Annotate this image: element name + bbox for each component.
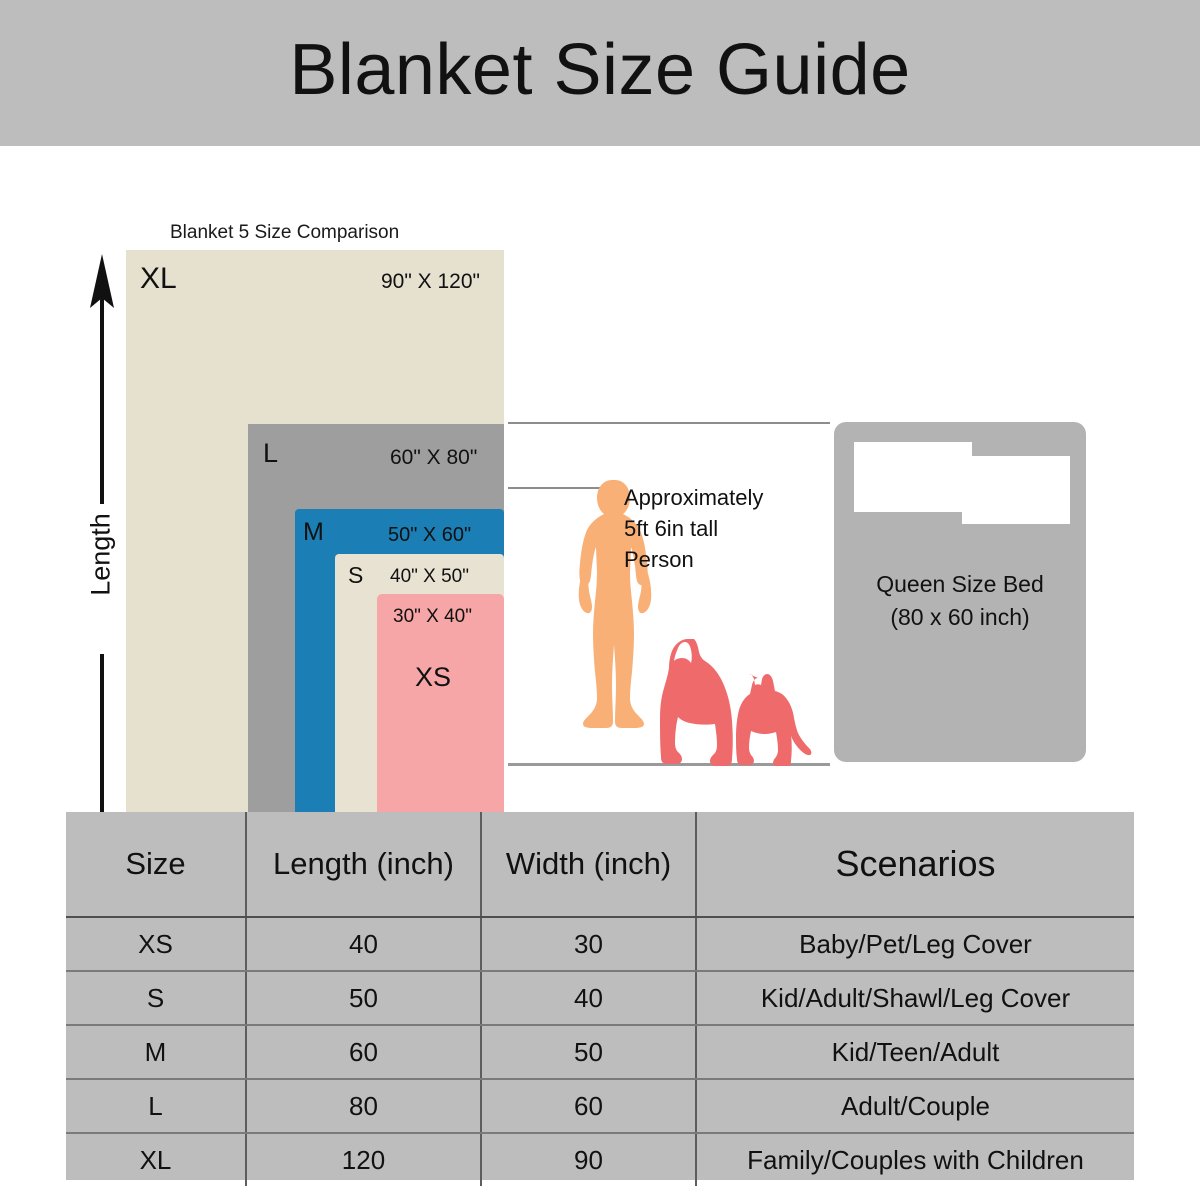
table-row: S 50 40 Kid/Adult/Shawl/Leg Cover: [66, 971, 1134, 1025]
comparison-caption: Blanket 5 Size Comparison: [170, 222, 399, 244]
page-title: Blanket Size Guide: [0, 22, 1200, 118]
table-header-scenarios: Scenarios: [696, 812, 1134, 917]
person-height-caption: Approximately 5ft 6in tall Person: [624, 482, 824, 575]
cell-size: S: [66, 971, 246, 1025]
pets-silhouette-icon: [660, 636, 812, 771]
bed-subtitle: (80 x 60 inch): [834, 601, 1086, 634]
table-row: XL 120 90 Family/Couples with Children: [66, 1133, 1134, 1186]
pillow-left: [854, 442, 972, 512]
blanket-dimensions-xl: 90" X 120": [381, 270, 480, 294]
blanket-label-l: L: [263, 438, 278, 469]
cell-scenarios: Adult/Couple: [696, 1079, 1134, 1133]
pillow-right: [962, 456, 1070, 524]
blanket-dimensions-xs: 30" X 40": [393, 606, 472, 628]
cell-width: 90: [481, 1133, 696, 1186]
cat-silhouette-icon: [736, 674, 811, 766]
size-comparison-diagram: Blanket 5 Size Comparison Length XL 90" …: [0, 146, 1200, 812]
table-row: L 80 60 Adult/Couple: [66, 1079, 1134, 1133]
cell-scenarios: Baby/Pet/Leg Cover: [696, 917, 1134, 971]
cell-length: 80: [246, 1079, 481, 1133]
cell-length: 60: [246, 1025, 481, 1079]
blanket-label-xl: XL: [140, 262, 177, 296]
bed-title: Queen Size Bed: [834, 568, 1086, 601]
size-table-header: Size Length (inch) Width (inch) Scenario…: [66, 812, 1134, 917]
cell-length: 120: [246, 1133, 481, 1186]
person-caption-line-1: Approximately: [624, 482, 824, 513]
cell-width: 60: [481, 1079, 696, 1133]
cell-size: M: [66, 1025, 246, 1079]
blanket-size-guide-page: Blanket Size Guide Blanket 5 Size Compar…: [0, 0, 1200, 1200]
cell-width: 40: [481, 971, 696, 1025]
blanket-dimensions-l: 60" X 80": [390, 446, 477, 470]
blanket-label-s: S: [348, 562, 363, 589]
size-table: Size Length (inch) Width (inch) Scenario…: [66, 812, 1134, 1186]
cell-scenarios: Kid/Adult/Shawl/Leg Cover: [696, 971, 1134, 1025]
table-header-width: Width (inch): [481, 812, 696, 917]
table-row: M 60 50 Kid/Teen/Adult: [66, 1025, 1134, 1079]
person-caption-line-3: Person: [624, 544, 824, 575]
table-header-size: Size: [66, 812, 246, 917]
table-header-length: Length (inch): [246, 812, 481, 917]
blanket-label-m: M: [303, 518, 324, 547]
cell-length: 40: [246, 917, 481, 971]
cell-scenarios: Family/Couples with Children: [696, 1133, 1134, 1186]
person-caption-line-2: 5ft 6in tall: [624, 513, 824, 544]
cell-size: XL: [66, 1133, 246, 1186]
cell-size: L: [66, 1079, 246, 1133]
cell-size: XS: [66, 917, 246, 971]
size-table-panel: Size Length (inch) Width (inch) Scenario…: [66, 812, 1134, 1180]
dog-silhouette-icon: [660, 639, 733, 766]
cell-width: 50: [481, 1025, 696, 1079]
length-axis: Length: [72, 254, 132, 904]
cell-width: 30: [481, 917, 696, 971]
blanket-label-xs: XS: [415, 662, 451, 693]
table-row: XS 40 30 Baby/Pet/Leg Cover: [66, 917, 1134, 971]
blanket-dimensions-s: 40" X 50": [390, 566, 469, 588]
length-axis-label: Length: [86, 490, 117, 620]
cell-length: 50: [246, 971, 481, 1025]
cell-scenarios: Kid/Teen/Adult: [696, 1025, 1134, 1079]
size-table-body: XS 40 30 Baby/Pet/Leg Cover S 50 40 Kid/…: [66, 917, 1134, 1186]
blanket-dimensions-m: 50" X 60": [388, 524, 471, 547]
bed-caption: Queen Size Bed (80 x 60 inch): [834, 568, 1086, 634]
table-header-row: Size Length (inch) Width (inch) Scenario…: [66, 812, 1134, 917]
